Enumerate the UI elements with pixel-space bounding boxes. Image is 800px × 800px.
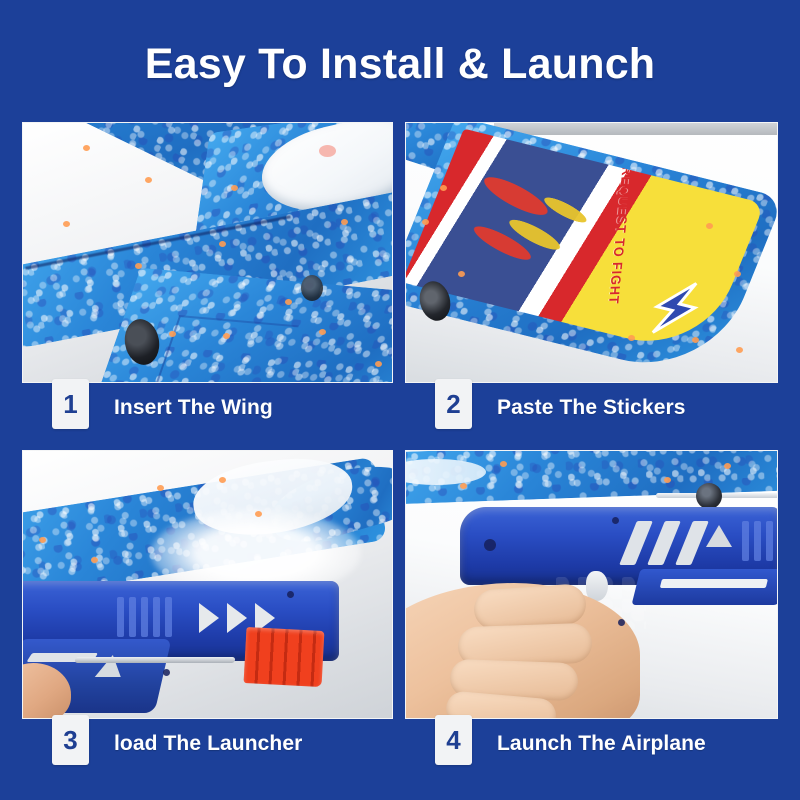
chevron-arrow-icon [227,603,247,633]
step-3-photo [22,450,393,719]
foam-speck [664,477,671,483]
foam-speck [628,335,635,341]
product-infographic: Easy To Install & Launch [0,0,800,800]
foam-speck [458,271,465,277]
launcher-screw [618,619,625,626]
step-1-caption-row: 1 Insert The Wing [22,385,393,431]
barrel-stripe [660,579,768,588]
step-card-3: 3 load The Launcher [22,450,393,719]
foam-speck [460,483,467,489]
foam-speck [83,145,90,151]
foam-speck [91,557,98,563]
step-1-caption-text: Insert The Wing [114,396,273,420]
foam-speck [285,299,292,305]
step-1-number-badge: 1 [52,379,89,429]
step-card-4: 4 Launch The Airplane [405,450,778,719]
body-stripe [675,521,709,565]
launcher-screw [612,517,619,524]
launcher-vent [742,521,749,561]
launcher-red-magazine [244,627,325,687]
foam-speck [734,271,741,277]
foam-speck [145,177,152,183]
foam-speck [375,361,382,367]
step-2-photo: REQUEST TO FIGHT [405,122,778,383]
launcher-sight-hole [484,539,496,551]
step-3-caption-row: 3 load The Launcher [22,721,393,767]
foam-speck [135,263,142,269]
launcher-vent [165,597,172,637]
foam-speck [231,185,238,191]
step-3-caption-text: load The Launcher [114,732,302,756]
foam-speck [219,241,226,247]
step-4-number-badge: 4 [435,715,472,765]
step-1-photo [22,122,393,383]
foam-speck [255,511,262,517]
foam-speck [223,333,230,339]
step-card-1: 1 Insert The Wing [22,122,393,383]
step-2-caption-row: 2 Paste The Stickers [405,385,778,431]
foam-speck [500,461,507,467]
foam-speck [692,337,699,343]
launcher-vent [766,521,773,561]
chevron-arrow-icon [199,603,219,633]
foam-speck [39,537,46,543]
foam-speck [341,219,348,225]
launcher-vent [153,597,160,637]
canopy-marking [319,145,336,157]
glider-wheel [696,483,722,509]
glider-front-wheel [301,275,323,301]
foam-speck [219,477,226,483]
launcher-screw [163,669,170,676]
step-4-caption-text: Launch The Airplane [497,732,706,756]
page-title: Easy To Install & Launch [0,38,800,90]
launcher-vent [129,597,136,637]
step-4-photo [405,450,778,719]
body-stripe [619,521,653,565]
foam-speck [63,221,70,227]
launcher-screw [287,591,294,598]
step-2-number-badge: 2 [435,379,472,429]
step-card-2: REQUEST TO FIGHT 2 Paste The Stickers [405,122,778,383]
launcher-rail [75,657,236,663]
sticker-tagline: REQUEST TO FIGHT [605,166,635,305]
step-3-number-badge: 3 [52,715,89,765]
step-4-caption-row: 4 Launch The Airplane [405,721,778,767]
foam-speck [724,463,731,469]
launcher-vent [117,597,124,637]
body-stripe [647,521,681,565]
step-2-caption-text: Paste The Stickers [497,396,686,420]
launcher-vent [141,597,148,637]
foam-speck [706,223,713,229]
foam-speck [319,329,326,335]
foam-speck [440,185,447,191]
foam-speck [736,347,743,353]
triangle-marker-icon [706,525,732,547]
flame-graphic [434,149,619,307]
foam-speck [157,485,164,491]
foam-speck [422,219,429,225]
foam-speck [169,331,176,337]
background-shelf-edge [494,122,777,135]
launcher-vent [754,521,761,561]
launcher-barrel [632,569,778,605]
